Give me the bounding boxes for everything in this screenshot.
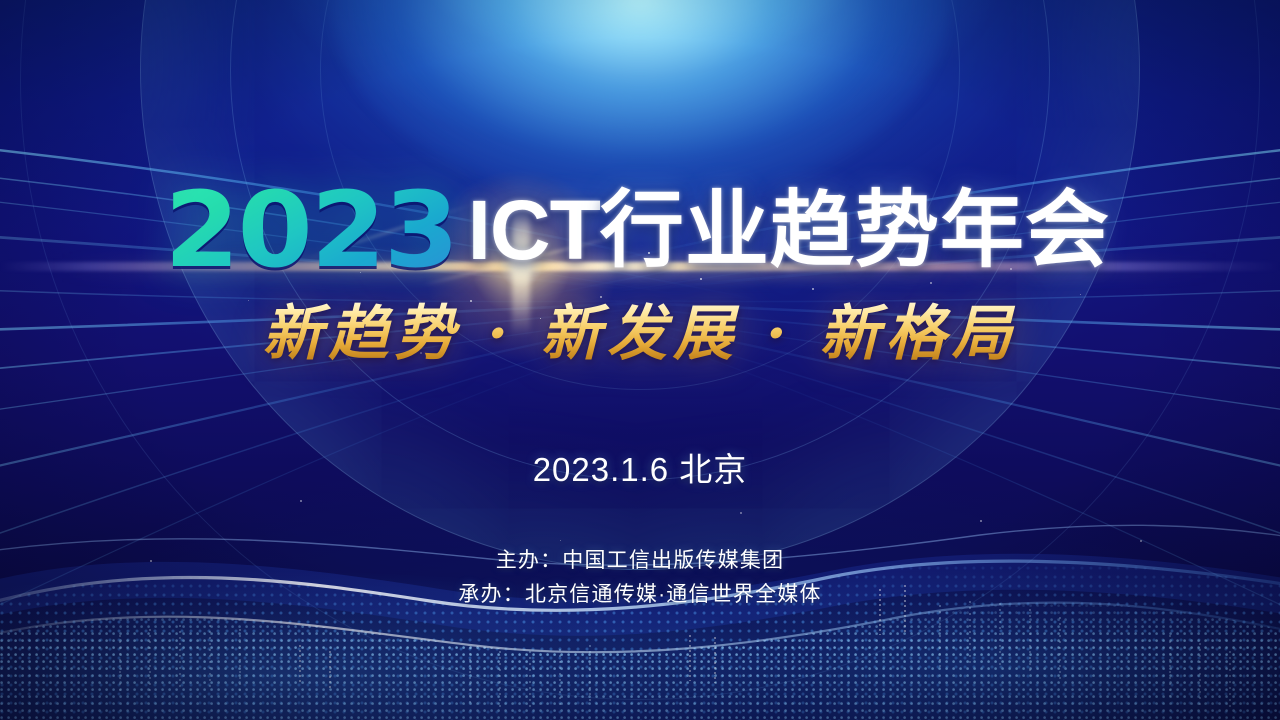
date-location-block: 2023.1.6 北京 xyxy=(0,443,1280,491)
main-title-chinese: 行业趋势年会 xyxy=(600,183,1110,277)
main-title: ICT行业趋势年会 xyxy=(468,188,1110,272)
poster-content: 2023 ICT行业趋势年会 新趋势 · 新发展 · 新格局 2023.1.6 … xyxy=(0,0,1280,720)
title-row: 2023 ICT行业趋势年会 xyxy=(0,178,1280,282)
credit-organizer: 承办：北京信通传媒·通信世界全媒体 xyxy=(0,578,1280,612)
date-location: 2023.1.6 北京 xyxy=(533,443,748,491)
poster-canvas: 2023 ICT行业趋势年会 新趋势 · 新发展 · 新格局 2023.1.6 … xyxy=(0,0,1280,720)
main-title-latin: ICT xyxy=(468,183,600,277)
year-2023: 2023 xyxy=(164,178,457,282)
credits-block: 主办：中国工信出版传媒集团 承办：北京信通传媒·通信世界全媒体 xyxy=(0,544,1280,612)
subtitle: 新趋势 · 新发展 · 新格局 xyxy=(0,300,1280,369)
credit-host: 主办：中国工信出版传媒集团 xyxy=(0,544,1280,578)
